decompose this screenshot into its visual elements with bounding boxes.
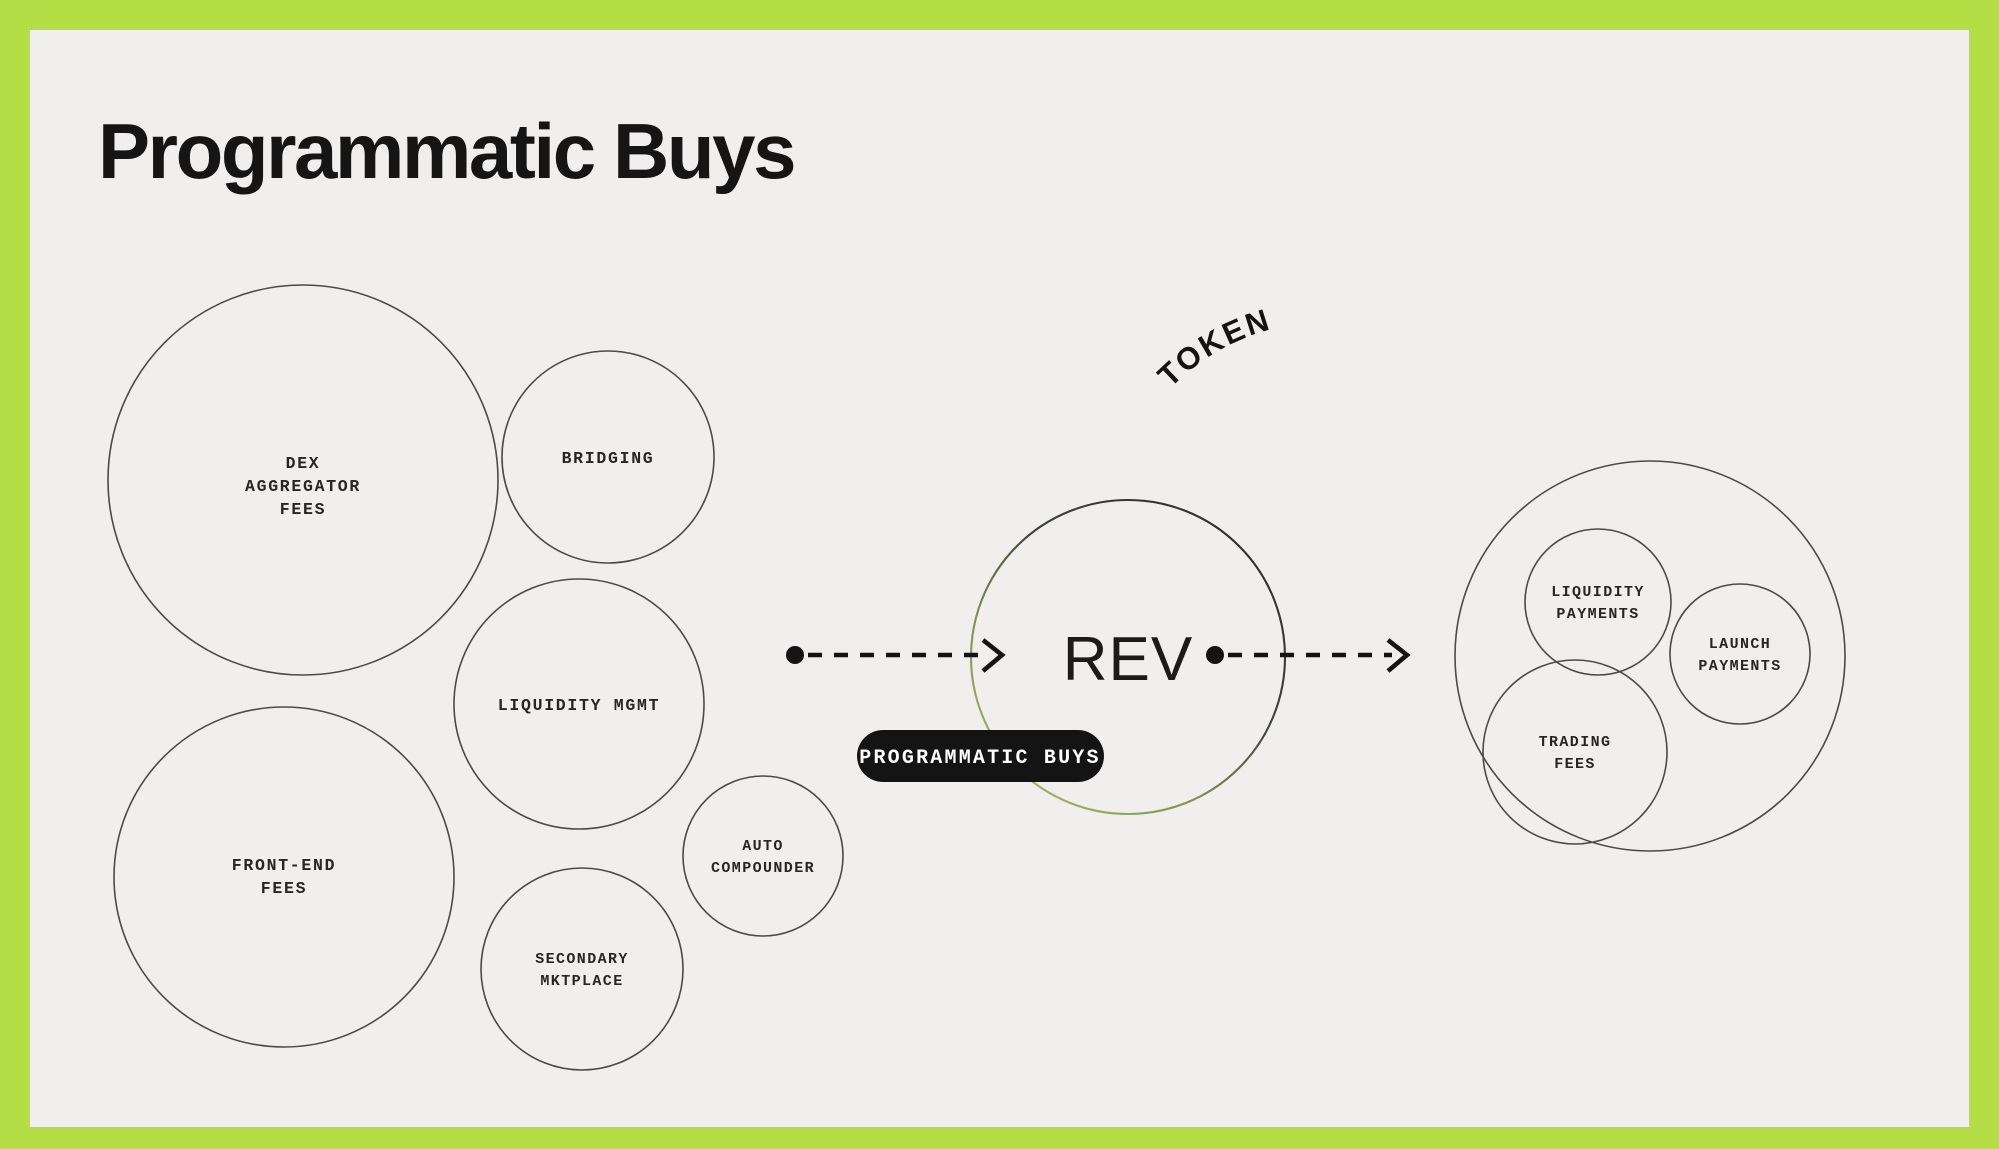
node-circle — [683, 776, 843, 936]
node-label-line-2: COMPOUNDER — [711, 860, 815, 877]
connector-inputs-to-rev — [786, 640, 1002, 671]
node-circle — [481, 868, 683, 1070]
node-label-line-1: LAUNCH — [1709, 636, 1771, 653]
node-label-line-1: DEX — [286, 454, 321, 473]
connector-start-dot — [1206, 646, 1224, 664]
node-label-line-2: PAYMENTS — [1698, 658, 1781, 675]
token-outer-circle — [1455, 461, 1845, 851]
node-label-line-1: LIQUIDITY — [1551, 584, 1645, 601]
node-label-line-2: PAYMENTS — [1556, 606, 1639, 623]
node-label-line-2: MKTPLACE — [540, 973, 623, 990]
input-cluster: DEX AGGREGATOR FEES BRIDGING LIQUIDITY M… — [108, 285, 843, 1070]
node-label-line-1: TRADING — [1539, 734, 1612, 751]
node-auto-compounder[interactable]: AUTO COMPOUNDER — [683, 776, 843, 936]
node-front-end-fees[interactable]: FRONT-END FEES — [114, 707, 454, 1047]
diagram-svg: DEX AGGREGATOR FEES BRIDGING LIQUIDITY M… — [30, 30, 1969, 1127]
node-label-line-1: BRIDGING — [562, 449, 655, 468]
programmatic-buys-badge[interactable]: PROGRAMMATIC BUYS — [857, 730, 1104, 782]
diagram-canvas: DEX AGGREGATOR FEES BRIDGING LIQUIDITY M… — [30, 30, 1969, 1127]
node-bridging[interactable]: BRIDGING — [502, 351, 714, 563]
node-secondary-mktplace[interactable]: SECONDARY MKTPLACE — [481, 868, 683, 1070]
token-label-text: TOKEN — [1151, 302, 1275, 394]
token-label: TOKEN — [1151, 302, 1275, 394]
slide-panel: Programmatic Buys — [30, 30, 1969, 1127]
node-circle — [1525, 529, 1671, 675]
node-trading-fees[interactable]: TRADING FEES — [1483, 660, 1667, 844]
node-dex-aggregator-fees[interactable]: DEX AGGREGATOR FEES — [108, 285, 498, 675]
slide-frame: Programmatic Buys — [0, 0, 1999, 1149]
node-circle — [1670, 584, 1810, 724]
node-label-line-2: FEES — [261, 879, 307, 898]
badge-label: PROGRAMMATIC BUYS — [859, 747, 1100, 770]
node-liquidity-payments[interactable]: LIQUIDITY PAYMENTS — [1525, 529, 1671, 675]
node-liquidity-mgmt[interactable]: LIQUIDITY MGMT — [454, 579, 704, 829]
node-label-line-1: SECONDARY — [535, 951, 629, 968]
node-launch-payments[interactable]: LAUNCH PAYMENTS — [1670, 584, 1810, 724]
node-circle — [114, 707, 454, 1047]
connector-start-dot — [786, 646, 804, 664]
node-label-line-1: LIQUIDITY MGMT — [498, 696, 660, 715]
node-label-line-1: FRONT-END — [232, 856, 336, 875]
node-label-line-2: FEES — [1554, 756, 1596, 773]
node-token[interactable]: TOKEN LIQUIDITY PAYMENTS LAUNCH PAYMENTS — [1151, 302, 1845, 851]
connector-arrowhead-icon — [983, 640, 1002, 671]
connector-rev-to-token — [1206, 640, 1407, 671]
rev-label: REV — [1063, 625, 1193, 694]
node-label-line-1: AUTO — [742, 838, 784, 855]
node-circle — [1483, 660, 1667, 844]
node-label-line-2: AGGREGATOR — [245, 477, 361, 496]
node-label-line-3: FEES — [280, 500, 326, 519]
